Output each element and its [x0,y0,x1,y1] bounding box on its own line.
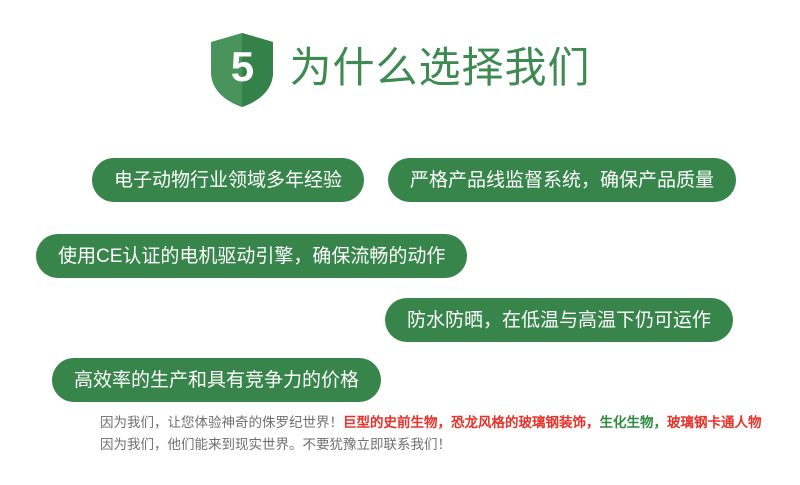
footer-line-1: 因为我们，让您体验神奇的侏罗纪世界！巨型的史前生物，恐龙风格的玻璃钢装饰，生化生… [100,412,800,434]
footer-line1-highlight-biochem: 生化生物， [600,415,668,430]
shield-badge-number: 5 [209,32,275,108]
feature-row-4: 高效率的生产和具有竞争力的价格 [0,358,800,402]
feature-pill-list: 电子动物行业领域多年经验 严格产品线监督系统，确保产品质量 使用CE认证的电机驱… [0,150,800,400]
footer-line1-highlight-cartoon: 玻璃钢卡通人物 [667,415,762,430]
shield-badge: 5 [209,32,275,108]
footer-paragraph: 因为我们，让您体验神奇的侏罗纪世界！巨型的史前生物，恐龙风格的玻璃钢装饰，生化生… [0,412,800,456]
feature-pill-quality-control[interactable]: 严格产品线监督系统，确保产品质量 [388,158,736,202]
feature-pill-experience[interactable]: 电子动物行业领域多年经验 [92,158,364,202]
feature-pill-ce-motor[interactable]: 使用CE认证的电机驱动引擎，确保流畅的动作 [36,234,467,278]
feature-row-3: 防水防晒，在低温与高温下仍可运作 [0,298,800,342]
feature-pill-weatherproof[interactable]: 防水防晒，在低温与高温下仍可运作 [385,298,733,342]
footer-line1-highlight-prehistoric: 巨型的史前生物，恐龙风格的玻璃钢装饰， [343,415,600,430]
footer-line1-intro: 因为我们，让您体验神奇的侏罗纪世界！ [100,415,343,430]
feature-row-1: 电子动物行业领域多年经验 严格产品线监督系统，确保产品质量 [0,158,800,202]
feature-row-2: 使用CE认证的电机驱动引擎，确保流畅的动作 [0,234,800,278]
page-header: 5 为什么选择我们 [0,24,800,116]
page-title: 为什么选择我们 [289,47,590,93]
footer-line-2: 因为我们，他们能来到现实世界。不要犹豫立即联系我们！ [100,434,800,456]
feature-pill-efficient-price[interactable]: 高效率的生产和具有竞争力的价格 [52,358,381,402]
